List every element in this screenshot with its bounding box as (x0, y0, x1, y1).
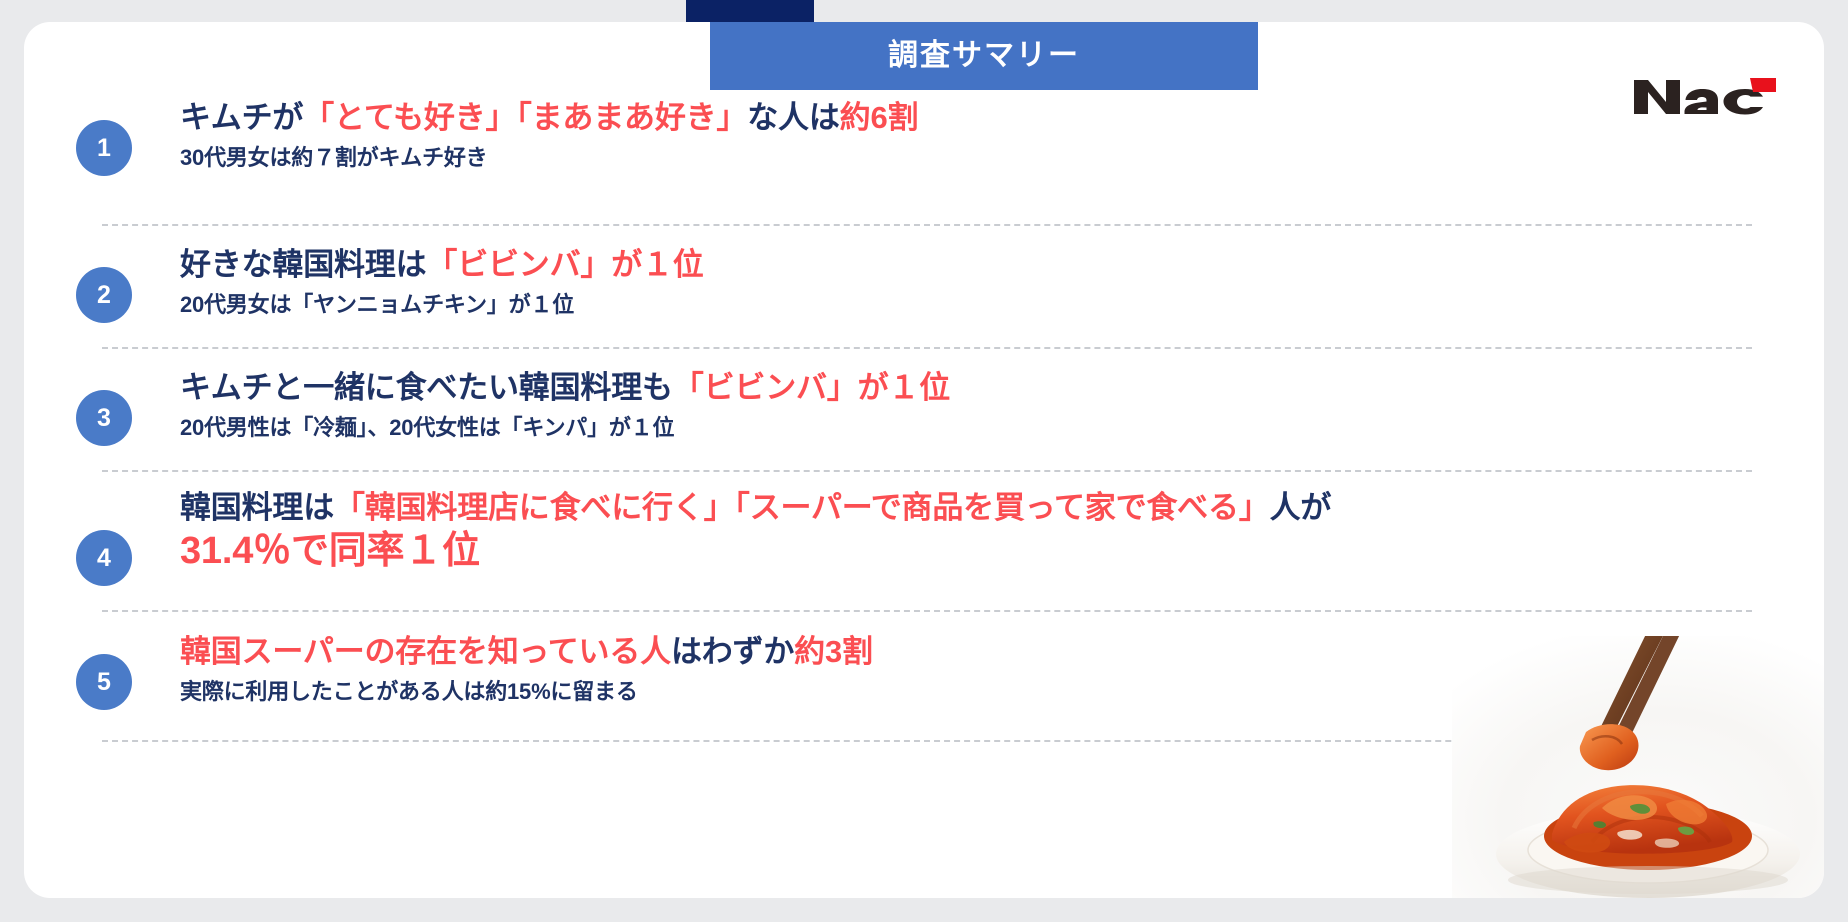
row-content-1: キムチが「とても好き」「まあまあ好き」な人は約6割 30代男女は約７割がキムチ好… (180, 98, 1770, 173)
row-divider-3 (102, 470, 1752, 472)
row-number-badge-1: 1 (76, 120, 132, 176)
row-headline-3: キムチと一緒に食べたい韓国料理も「ビビンバ」が１位 (180, 368, 1770, 407)
headline-segment: な人は (747, 100, 839, 135)
headline-segment: 「とても好き」「まあまあ好き」 (303, 100, 747, 135)
row-divider-4 (102, 610, 1752, 612)
headline-segment: はわずか (671, 634, 794, 669)
summary-card: 調査サマリー (24, 22, 1824, 898)
row-content-2: 好きな韓国料理は「ビビンバ」が１位 20代男女は「ヤンニョムチキン」が１位 (180, 245, 1770, 320)
row-headline-4-line2: 31.4％で同率１位 (180, 529, 1770, 575)
row-divider-1 (102, 224, 1752, 226)
summary-rows: 1 キムチが「とても好き」「まあまあ好き」な人は約6割 30代男女は約７割がキム… (24, 90, 1824, 898)
row-headline-5: 韓国スーパーの存在を知っている人はわずか約3割 (180, 632, 1770, 671)
row-headline-2: 好きな韓国料理は「ビビンバ」が１位 (180, 245, 1770, 284)
headline-segment: 韓国スーパーの存在を知っている人 (180, 634, 671, 669)
row-number-badge-2: 2 (76, 267, 132, 323)
headline-segment: キムチが (180, 100, 303, 135)
headline-segment: 人が (1270, 490, 1332, 525)
headline-segment: 「韓国料理店に食べに行く」「スーパーで商品を買って家で食べる」 (334, 490, 1270, 525)
headline-segment: 約6割 (840, 100, 919, 135)
headline-segment: 「ビビンバ」が１位 (426, 247, 703, 282)
banner-notch (686, 0, 814, 22)
row-content-5: 韓国スーパーの存在を知っている人はわずか約3割 実際に利用したことがある人は約1… (180, 632, 1770, 707)
infographic-canvas: 調査サマリー (0, 0, 1848, 922)
header-banner: 調査サマリー (710, 22, 1258, 90)
row-divider-2 (102, 347, 1752, 349)
row-subtext-5: 実際に利用したことがある人は約15%に留まる (180, 678, 1770, 707)
row-headline-1: キムチが「とても好き」「まあまあ好き」な人は約6割 (180, 98, 1770, 137)
row-subtext-3: 20代男性は「冷麺」、20代女性は「キンパ」が１位 (180, 414, 1770, 443)
headline-segment: 韓国料理は (180, 490, 334, 525)
row-number-badge-5: 5 (76, 654, 132, 710)
banner-title: 調査サマリー (888, 41, 1080, 71)
headline-segment: キムチと一緒に食べたい韓国料理も (180, 370, 673, 405)
row-number-badge-3: 3 (76, 390, 132, 446)
headline-segment: 「ビビンバ」が１位 (673, 370, 950, 405)
row-subtext-1: 30代男女は約７割がキムチ好き (180, 144, 1770, 173)
row-headline-4: 韓国料理は「韓国料理店に食べに行く」「スーパーで商品を買って家で食べる」人が (180, 488, 1770, 527)
row-subtext-2: 20代男女は「ヤンニョムチキン」が１位 (180, 291, 1770, 320)
headline-segment: 約3割 (794, 634, 873, 669)
row-content-4: 韓国料理は「韓国料理店に食べに行く」「スーパーで商品を買って家で食べる」人が 3… (180, 488, 1770, 575)
row-content-3: キムチと一緒に食べたい韓国料理も「ビビンバ」が１位 20代男性は「冷麺」、20代… (180, 368, 1770, 443)
headline-segment: 好きな韓国料理は (180, 247, 426, 282)
nac-logo (1632, 70, 1778, 116)
row-divider-5 (102, 740, 1752, 742)
row-number-badge-4: 4 (76, 530, 132, 586)
